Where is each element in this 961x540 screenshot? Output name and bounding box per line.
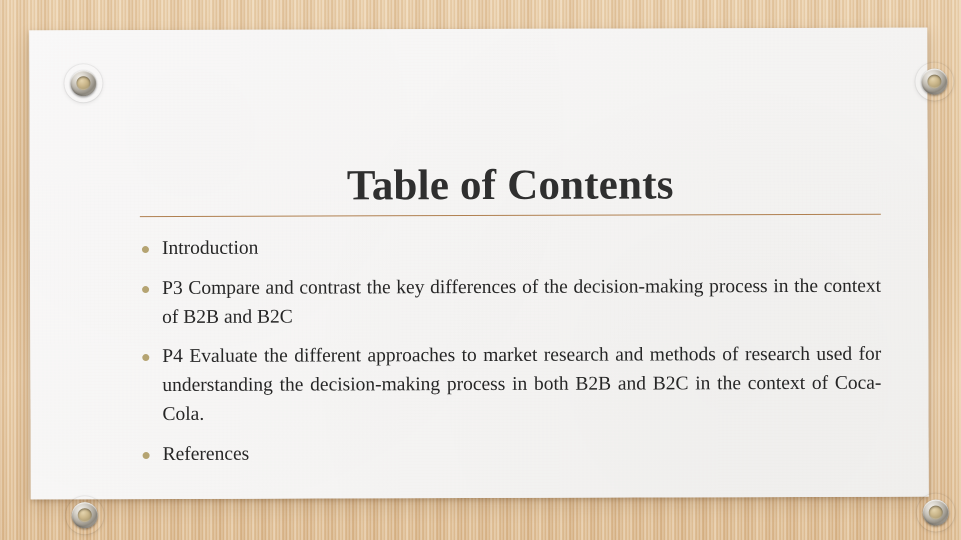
list-item-label: P4 Evaluate the different approaches to … — [162, 344, 881, 425]
slide-card: Table of Contents Introduction P3 Compar… — [29, 28, 928, 500]
list-item[interactable]: References — [141, 439, 882, 470]
slide-background: Table of Contents Introduction P3 Compar… — [0, 0, 961, 540]
screw-icon-top-right — [921, 69, 947, 95]
bullet-icon — [143, 452, 150, 459]
title-divider — [140, 214, 881, 217]
bullet-icon — [142, 246, 149, 253]
bullet-icon — [142, 354, 149, 361]
list-item[interactable]: Introduction — [140, 233, 881, 264]
list-item-label: Introduction — [162, 238, 258, 259]
screw-icon-bottom-right — [923, 500, 949, 526]
list-item[interactable]: P4 Evaluate the different approaches to … — [140, 341, 881, 430]
list-item-label: References — [163, 444, 250, 465]
list-item-label: P3 Compare and contrast the key differen… — [162, 276, 881, 328]
bullet-icon — [142, 286, 149, 293]
table-of-contents-list: Introduction P3 Compare and contrast the… — [140, 233, 882, 470]
page-title: Table of Contents — [140, 161, 881, 211]
screw-icon-top-left — [70, 70, 96, 96]
list-item[interactable]: P3 Compare and contrast the key differen… — [140, 273, 881, 333]
screw-icon-bottom-left — [72, 502, 98, 528]
